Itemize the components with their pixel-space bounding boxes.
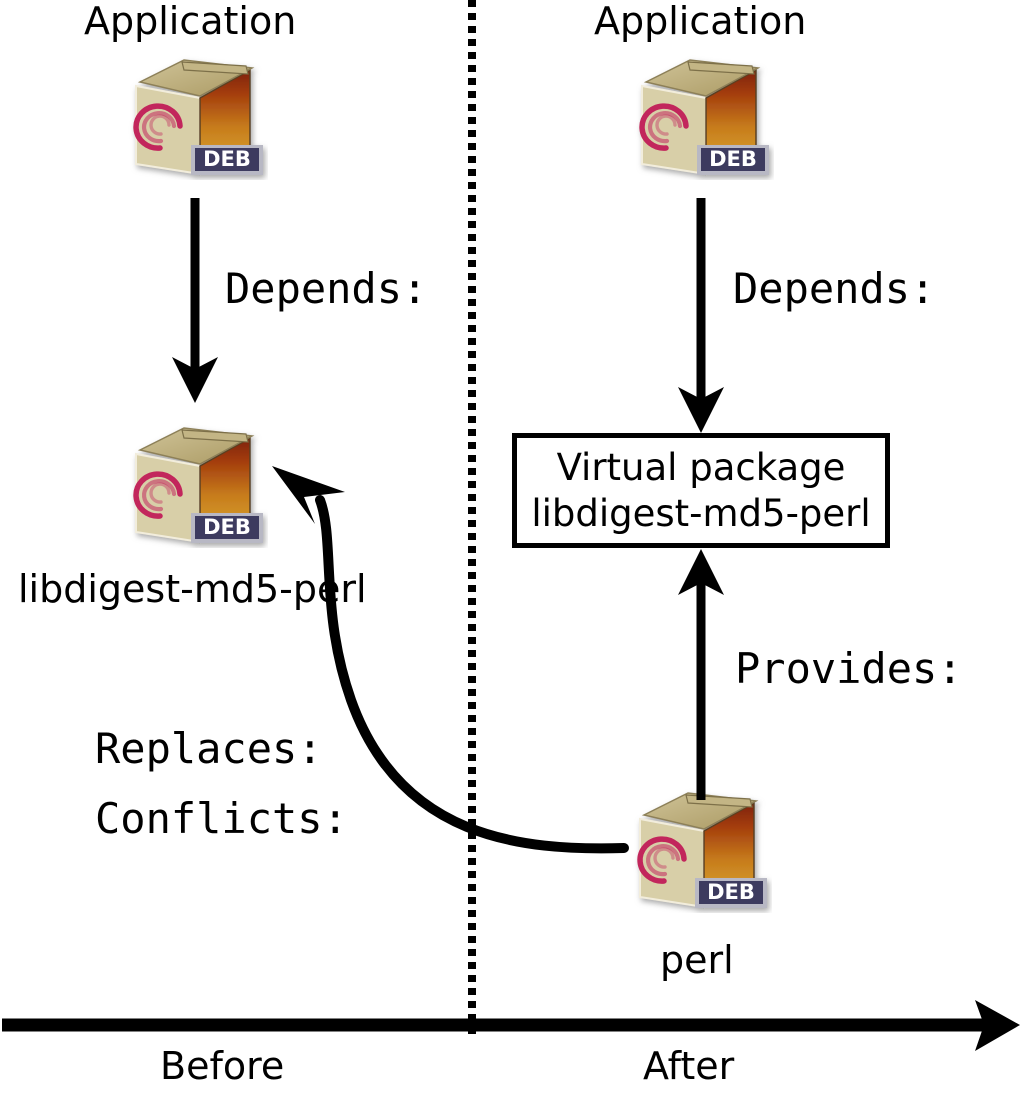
conflicts-label: Conflicts:: [95, 798, 348, 840]
timeline-before-label: Before: [160, 1047, 284, 1085]
before-after-divider: [468, 0, 476, 1040]
virtual-package-line2: libdigest-md5-perl: [531, 491, 870, 537]
before-depends-arrow: [172, 198, 218, 403]
after-depends-label: Depends:: [733, 268, 935, 310]
before-application-package-icon: DEB: [118, 52, 268, 180]
before-libdigest-package-icon: DEB: [118, 420, 268, 548]
after-perl-package-icon: DEB: [622, 785, 772, 913]
replaces-label: Replaces:: [95, 728, 323, 770]
before-libdigest-caption: libdigest-md5-perl: [18, 570, 367, 608]
before-application-label: Application: [84, 2, 296, 40]
after-perl-caption: perl: [660, 941, 734, 979]
provides-label: Provides:: [735, 648, 963, 690]
svg-text:DEB: DEB: [707, 880, 755, 904]
timeline-axis-arrow: [2, 1000, 1020, 1051]
after-depends-arrow: [678, 198, 724, 433]
svg-text:DEB: DEB: [203, 147, 251, 171]
provides-arrow: [678, 549, 724, 800]
virtual-package-line1: Virtual package: [557, 445, 846, 491]
svg-text:DEB: DEB: [203, 515, 251, 539]
svg-text:DEB: DEB: [709, 147, 757, 171]
after-application-label: Application: [594, 2, 806, 40]
virtual-package-box: Virtual package libdigest-md5-perl: [512, 433, 890, 548]
after-application-package-icon: DEB: [624, 52, 774, 180]
timeline-after-label: After: [643, 1047, 734, 1085]
diagram-canvas: Application: [0, 0, 1024, 1094]
before-depends-label: Depends:: [225, 268, 427, 310]
